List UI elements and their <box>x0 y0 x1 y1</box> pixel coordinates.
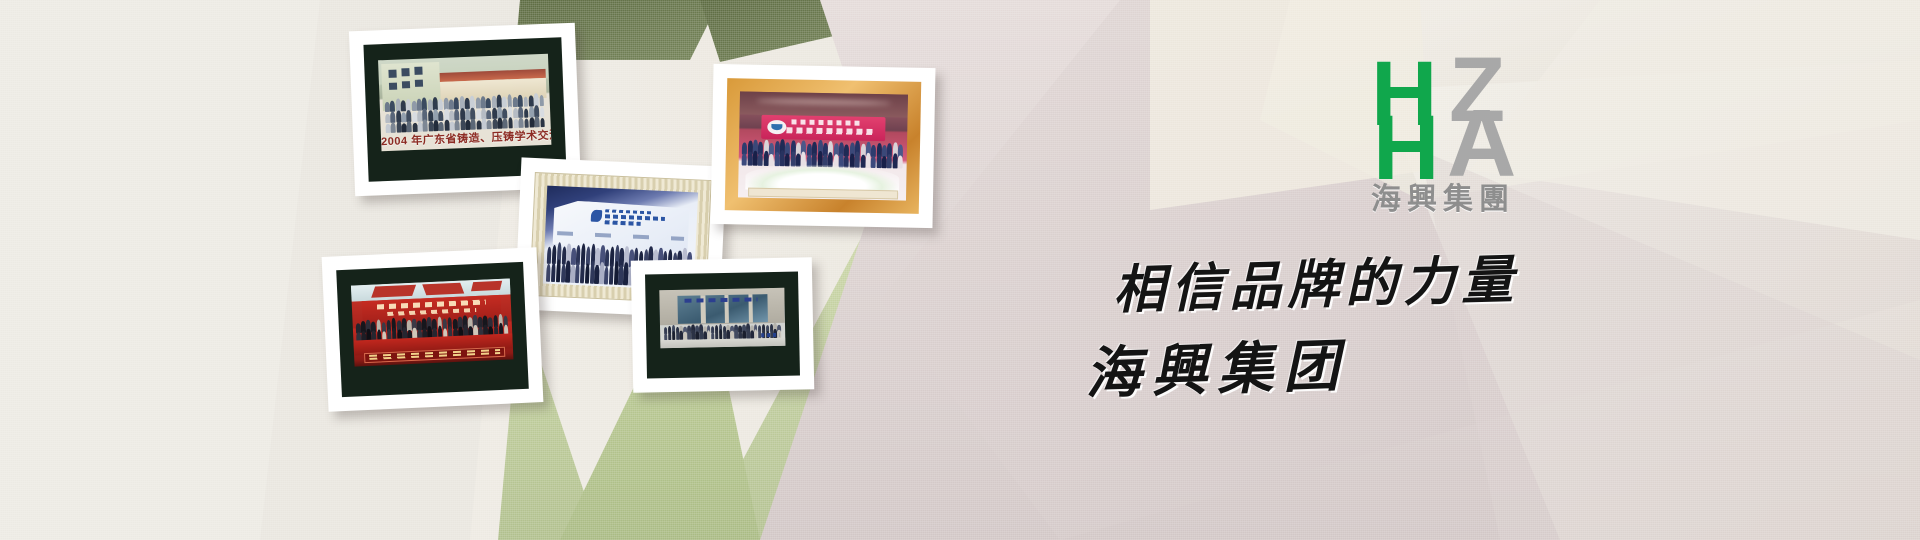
photo-image-2014-red-stage <box>351 278 514 366</box>
slogan-block: 相信品牌的力量 海興集团 <box>1085 248 1565 410</box>
crowd-figure <box>758 153 763 166</box>
crowd-figure <box>492 119 497 129</box>
crowd-figure <box>754 329 758 338</box>
crowd-figure <box>407 121 412 132</box>
photo-association-ceremony[interactable] <box>710 64 935 228</box>
ceiling-beam <box>372 284 417 297</box>
banner-line-2 <box>786 128 873 135</box>
crowd-figure <box>769 154 774 166</box>
photo-stamp <box>761 333 779 337</box>
photo-2014-red-stage[interactable] <box>322 247 544 412</box>
crowd-figure <box>711 332 715 339</box>
logo-letters: H Z H A <box>1371 48 1546 168</box>
crowd-figure <box>503 119 508 129</box>
crowd-figure <box>882 156 887 168</box>
crowd-figure <box>439 121 444 130</box>
crowd-figure <box>455 120 460 130</box>
company-logo[interactable]: H Z H A 海興集團 <box>1371 48 1571 208</box>
crowd-figure <box>887 155 892 169</box>
photo-frame-gold <box>725 78 921 214</box>
photo-image-2004-conference: 2004 年广东省铸造、压铸学术交流会留影2004.10 <box>378 54 551 151</box>
crowd-figure <box>396 121 401 132</box>
slogan-line-1: 相信品牌的力量 <box>1112 236 1566 323</box>
crowd-figure <box>898 156 903 169</box>
crowd-figure <box>664 333 668 340</box>
crowd-figure <box>785 153 790 167</box>
crowd-figure <box>444 120 449 131</box>
crowd-shape <box>385 92 546 133</box>
crowd-figure <box>855 152 860 168</box>
crowd-figure <box>508 117 513 128</box>
crowd-figure <box>668 332 672 340</box>
background-facets <box>0 0 1920 540</box>
crowd-figure <box>871 156 876 169</box>
banner-line-1 <box>791 119 861 125</box>
crowd-figure <box>719 329 723 339</box>
photo-caption-strip <box>748 187 898 199</box>
ceiling-shape <box>740 91 908 118</box>
photo-image-building-entrance <box>659 288 785 348</box>
background-texture <box>0 0 1920 540</box>
crowd-figure <box>487 120 492 129</box>
company-banner: 2004 年广东省铸造、压铸学术交流会留影2004.10 <box>0 0 1920 540</box>
photo-frame-black <box>336 262 529 397</box>
ground-shape <box>660 338 785 349</box>
crowd-figure <box>715 331 719 340</box>
crowd-figure <box>535 116 540 127</box>
ceiling-beam <box>422 282 464 294</box>
slogan-line-2: 海興集团 <box>1084 314 1566 410</box>
crowd-figure <box>460 119 465 130</box>
crowd-figure <box>524 119 529 128</box>
logo-letter-a: A <box>1447 96 1512 192</box>
crowd-figure <box>519 117 524 127</box>
photo-image-association-ceremony <box>738 91 908 200</box>
crowd-figure <box>497 117 502 128</box>
crowd-figure <box>672 330 676 339</box>
crowd-figure <box>742 154 747 166</box>
association-emblem-icon <box>767 119 786 134</box>
photo-building-entrance[interactable] <box>631 257 815 392</box>
photo-frame-black <box>645 272 800 379</box>
crowd-figure <box>471 119 476 130</box>
crowd-figure <box>707 330 711 339</box>
stage-banner <box>761 115 886 141</box>
logo-letter-h-bottom: H <box>1373 102 1433 194</box>
crowd-figure <box>540 117 545 126</box>
crowd-figure <box>391 123 396 133</box>
crowd-figure <box>423 120 428 132</box>
crowd-figure <box>433 120 438 131</box>
crowd-figure <box>481 119 486 130</box>
